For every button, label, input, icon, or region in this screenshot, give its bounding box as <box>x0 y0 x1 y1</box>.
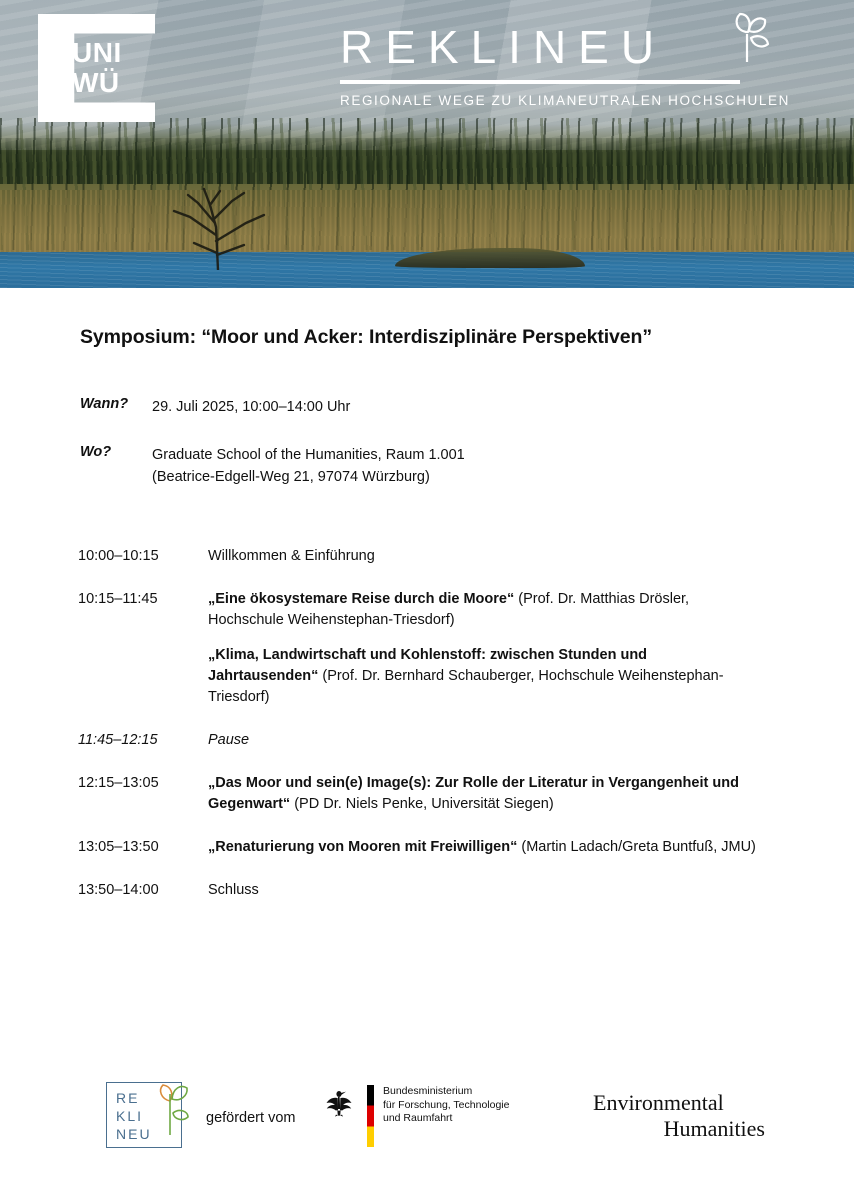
agenda-time: 11:45–12:15 <box>78 730 208 751</box>
agenda-time: 13:50–14:00 <box>78 880 208 901</box>
agenda-entry: Willkommen & Einführung <box>208 546 756 567</box>
agenda-description: Schluss <box>208 880 756 901</box>
agenda-time: 12:15–13:05 <box>78 773 208 815</box>
uni-wue-line1: UNI <box>72 38 154 68</box>
agenda-entry-detail: Pause <box>208 732 249 748</box>
grass-layer <box>0 190 854 258</box>
agenda-time: 13:05–13:50 <box>78 837 208 858</box>
agenda-row: 13:50–14:00Schluss <box>78 880 778 901</box>
agenda-time: 10:15–11:45 <box>78 589 208 708</box>
uni-wue-logotype: UNI WÜ <box>72 38 154 98</box>
detail-value-when: 29. Juli 2025, 10:00–14:00 Uhr <box>152 396 350 418</box>
detail-row-when: Wann? 29. Juli 2025, 10:00–14:00 Uhr <box>80 396 780 418</box>
detail-value-where: Graduate School of the Humanities, Raum … <box>152 444 465 488</box>
agenda-description: „Das Moor und sein(e) Image(s): Zur Roll… <box>208 773 756 815</box>
env-hum-line1: Environmental <box>585 1090 765 1116</box>
agenda-description: „Eine ökosystemare Reise durch die Moore… <box>208 589 756 708</box>
detail-where-line2: (Beatrice-Edgell-Weg 21, 97074 Würzburg) <box>152 466 465 488</box>
agenda-entry-detail: Schluss <box>208 882 259 898</box>
reklineu-divider-rule <box>340 80 740 84</box>
reklineu-footer-line3: NEU <box>116 1125 152 1143</box>
agenda-entry: Schluss <box>208 880 756 901</box>
agenda-description: „Renaturierung von Mooren mit Freiwillig… <box>208 837 756 858</box>
reklineu-footer-line1: RE <box>116 1089 152 1107</box>
agenda-entry-detail: Willkommen & Einführung <box>208 548 375 564</box>
federal-eagle-icon <box>325 1087 353 1117</box>
agenda-row: 10:15–11:45„Eine ökosystemare Reise durc… <box>78 589 778 708</box>
reklineu-logo: REKLINEU REGIONALE WEGE ZU KLIMANEUTRALE… <box>340 22 760 108</box>
agenda-entry: „Renaturierung von Mooren mit Freiwillig… <box>208 837 756 858</box>
reklineu-footer-logo: RE KLI NEU <box>106 1082 182 1148</box>
environmental-humanities-logo: Environmental Humanities <box>585 1090 765 1142</box>
detail-row-where: Wo? Graduate School of the Humanities, R… <box>80 444 780 488</box>
detail-where-line1: Graduate School of the Humanities, Raum … <box>152 444 465 466</box>
agenda-entry-title: „Eine ökosystemare Reise durch die Moore… <box>208 591 514 607</box>
agenda-entry: „Eine ökosystemare Reise durch die Moore… <box>208 589 756 631</box>
agenda-entry-title: „Renaturierung von Mooren mit Freiwillig… <box>208 839 517 855</box>
reklineu-footer-line2: KLI <box>116 1107 152 1125</box>
agenda-time: 10:00–10:15 <box>78 546 208 567</box>
ministry-line1: Bundesministerium <box>383 1085 509 1099</box>
ministry-name: Bundesministerium für Forschung, Technol… <box>383 1085 509 1126</box>
agenda-entry: „Das Moor und sein(e) Image(s): Zur Roll… <box>208 773 756 815</box>
event-details: Wann? 29. Juli 2025, 10:00–14:00 Uhr Wo?… <box>80 396 780 514</box>
agenda-entry: Pause <box>208 730 756 751</box>
agenda-entry-detail: (PD Dr. Niels Penke, Universität Siegen) <box>290 796 554 812</box>
agenda-row: 11:45–12:15Pause <box>78 730 778 751</box>
dead-tree-silhouette <box>160 175 280 270</box>
agenda-list: 10:00–10:15Willkommen & Einführung10:15–… <box>78 546 778 923</box>
uni-wue-logo: UNI WÜ <box>38 14 155 122</box>
detail-label-when: Wann? <box>80 396 152 418</box>
env-hum-line2: Humanities <box>585 1116 765 1142</box>
agenda-description: Willkommen & Einführung <box>208 546 756 567</box>
agenda-entry: „Klima, Landwirtschaft und Kohlenstoff: … <box>208 645 756 708</box>
reklineu-wordmark: REKLINEU <box>340 22 760 72</box>
detail-when-line1: 29. Juli 2025, 10:00–14:00 Uhr <box>152 396 350 418</box>
bundesministerium-logo: Bundesministerium für Forschung, Technol… <box>325 1085 525 1147</box>
german-flag-bar <box>367 1085 374 1147</box>
agenda-row: 10:00–10:15Willkommen & Einführung <box>78 546 778 567</box>
plant-icon <box>149 1077 193 1139</box>
hero-banner: UNI WÜ REKLINEU REGIONALE WEGE ZU KLIMAN… <box>0 0 854 288</box>
detail-label-where: Wo? <box>80 444 152 488</box>
funding-label: gefördert vom <box>206 1110 295 1126</box>
agenda-entry-detail: (Martin Ladach/Greta Buntfuß, JMU) <box>517 839 756 855</box>
reklineu-tagline: REGIONALE WEGE ZU KLIMANEUTRALEN HOCHSCH… <box>340 93 760 108</box>
uni-wue-line2: WÜ <box>72 68 154 98</box>
agenda-description: Pause <box>208 730 756 751</box>
ministry-line3: und Raumfahrt <box>383 1112 509 1126</box>
agenda-row: 13:05–13:50„Renaturierung von Mooren mit… <box>78 837 778 858</box>
agenda-row: 12:15–13:05„Das Moor und sein(e) Image(s… <box>78 773 778 815</box>
page-title: Symposium: “Moor und Acker: Interdiszipl… <box>80 326 780 349</box>
flyer-page: UNI WÜ REKLINEU REGIONALE WEGE ZU KLIMAN… <box>0 0 854 1184</box>
ministry-line2: für Forschung, Technologie <box>383 1099 509 1113</box>
leaf-icon <box>722 8 774 64</box>
reklineu-footer-logotype: RE KLI NEU <box>116 1089 152 1143</box>
